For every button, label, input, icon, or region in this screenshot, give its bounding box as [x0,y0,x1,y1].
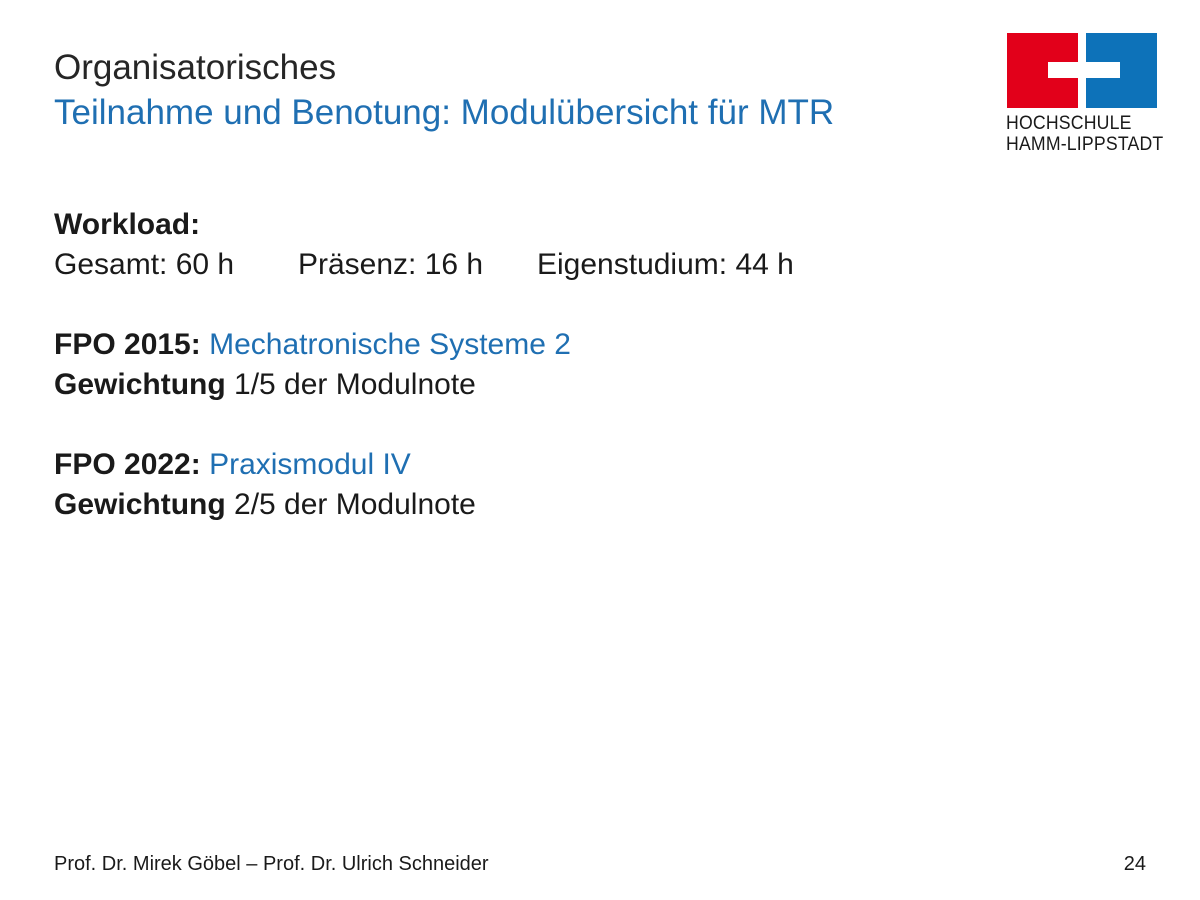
title-primary: Organisatorisches [54,45,994,90]
hochschule-hamm-lippstadt-logo: HOCHSCHULE HAMM-LIPPSTADT [1006,33,1162,157]
spacer-2 [54,405,1054,445]
footer-page-number: 24 [1124,851,1146,877]
footer-authors: Prof. Dr. Mirek Göbel – Prof. Dr. Ulrich… [54,851,489,877]
fpo-2022-label: FPO 2022: [54,448,201,481]
workload-heading-label: Workload: [54,208,200,241]
fpo-2015-module: Mechatronische Systeme 2 [209,328,571,361]
spacer-1 [54,285,1054,325]
logo-wordmark: HOCHSCHULE HAMM-LIPPSTADT [1006,113,1151,155]
title-subtitle: Teilnahme und Benotung: Modulübersicht f… [54,90,994,135]
workload-values-row: Gesamt: 60 hPräsenz: 16 hEigenstudium: 4… [54,245,1054,285]
logo-mark-icon [1006,33,1162,108]
fpo-2015-weight-label: Gewichtung [54,368,226,401]
fpo-2015-module-line: FPO 2015: Mechatronische Systeme 2 [54,325,1054,365]
slide: HOCHSCHULE HAMM-LIPPSTADT Organisatorisc… [0,0,1200,900]
logo-wordmark-line-1: HOCHSCHULE [1006,113,1151,134]
workload-eigenstudium: Eigenstudium: 44 h [537,245,794,285]
fpo-2022-module: Praxismodul IV [209,448,411,481]
slide-body: Workload: Gesamt: 60 hPräsenz: 16 hEigen… [54,205,1054,525]
page-title: Organisatorisches Teilnahme und Benotung… [54,45,994,135]
fpo-2022-weight-label: Gewichtung [54,488,226,521]
fpo-2015-weight-line: Gewichtung 1/5 der Modulnote [54,365,1054,405]
fpo-2022-module-line: FPO 2022: Praxismodul IV [54,445,1054,485]
workload-heading: Workload: [54,205,1054,245]
workload-praesenz: Präsenz: 16 h [298,245,537,285]
fpo-2022-weight-value: 2/5 der Modulnote [234,488,476,521]
logo-horizontal-bar [1048,62,1120,78]
logo-wordmark-line-2: HAMM-LIPPSTADT [1006,134,1151,155]
fpo-2015-weight-value: 1/5 der Modulnote [234,368,476,401]
fpo-2022-weight-line: Gewichtung 2/5 der Modulnote [54,485,1054,525]
workload-gesamt: Gesamt: 60 h [54,245,298,285]
fpo-2015-label: FPO 2015: [54,328,201,361]
